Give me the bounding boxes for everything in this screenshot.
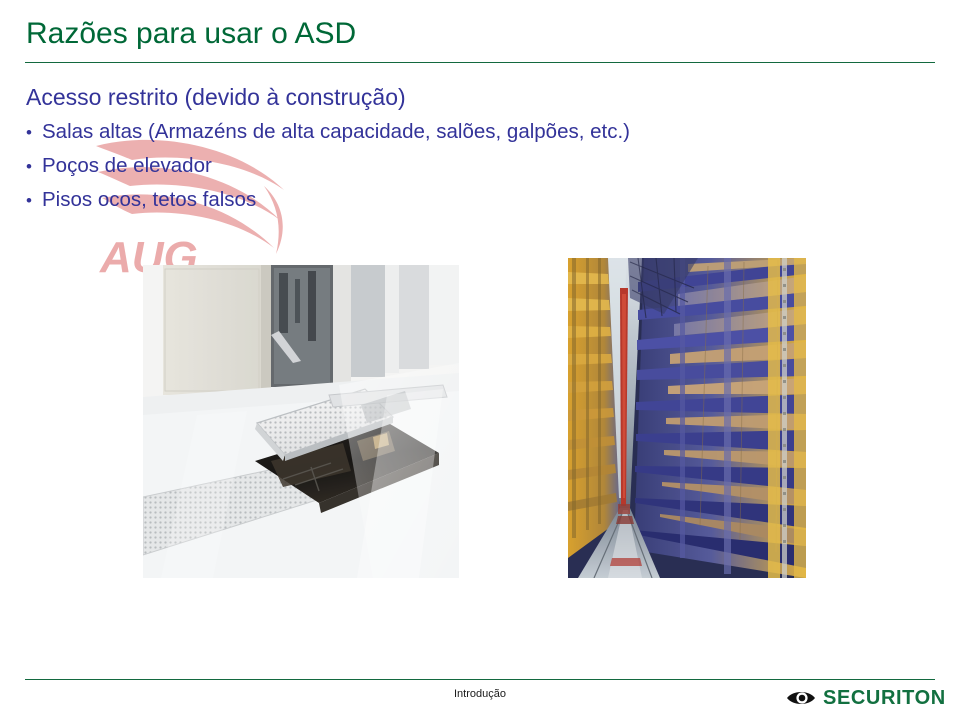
list-item-label: Poços de elevador: [42, 150, 212, 181]
bullet-icon: •: [26, 117, 42, 148]
securiton-logo: SECURITON: [786, 685, 946, 711]
list-item: • Pisos ocos, tetos falsos: [26, 184, 906, 216]
list-item: • Poços de elevador: [26, 150, 906, 182]
raised-floor-photo: [143, 265, 459, 578]
list-item-label: Pisos ocos, tetos falsos: [42, 184, 256, 215]
bullet-icon: •: [26, 185, 42, 216]
securiton-wordmark: SECURITON: [823, 688, 946, 708]
body-content: Acesso restrito (devido à construção) • …: [26, 82, 906, 216]
high-bay-warehouse-photo: [568, 258, 806, 578]
page-title: Razões para usar o ASD: [26, 16, 356, 52]
slide-canvas: Razões para usar o ASD AUG Acesso restri…: [0, 0, 960, 720]
footer-divider: [25, 679, 935, 680]
list-item-label: Salas altas (Armazéns de alta capacidade…: [42, 116, 630, 147]
eye-icon: [786, 688, 816, 708]
title-divider: [25, 62, 935, 63]
lead-line: Acesso restrito (devido à construção): [26, 82, 906, 113]
bullet-icon: •: [26, 151, 42, 182]
list-item: • Salas altas (Armazéns de alta capacida…: [26, 116, 906, 148]
